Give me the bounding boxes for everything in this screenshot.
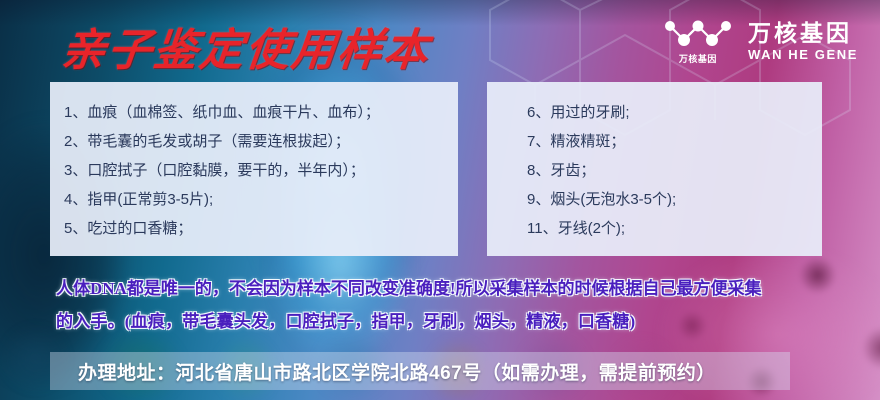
list-item: 11、牙线(2个); [501, 214, 808, 243]
brand-logo: 万核基因 万核基因 WAN HE GENE [662, 18, 858, 64]
logo-wordmark: 万核基因 WAN HE GENE [748, 21, 858, 61]
list-item: 3、口腔拭子（口腔黏膜，要干的，半年内）； [64, 156, 444, 185]
address-text: 办理地址：河北省唐山市路北区学院北路467号（如需办理，需提前预约） [50, 358, 716, 385]
note-paragraph: 人体DNA都是唯一的，不会因为样本不同改变准确度!所以采集样本的时候根据自己最方… [56, 272, 846, 338]
list-item: 5、吃过的口香糖； [64, 214, 444, 243]
list-item: 2、带毛囊的毛发或胡子（需要连根拔起）； [64, 127, 444, 156]
sample-list-right: 6、用过的牙刷; 7、精液精斑； 8、牙齿； 9、烟头(无泡水3-5个); 11… [501, 98, 808, 243]
sample-list-left: 1、血痕（血棉签、纸巾血、血痕干片、血布）； 2、带毛囊的毛发或胡子（需要连根拔… [64, 98, 444, 243]
list-item: 7、精液精斑； [501, 127, 808, 156]
list-item: 8、牙齿； [501, 156, 808, 185]
brand-name-cn: 万核基因 [748, 21, 858, 45]
list-item: 9、烟头(无泡水3-5个); [501, 185, 808, 214]
note-line-2: 的入手。(血痕，带毛囊头发，口腔拭子，指甲，牙刷，烟头，精液，口香糖) [56, 305, 846, 338]
page-title: 亲子鉴定使用样本 [59, 14, 434, 78]
list-item: 4、指甲(正常剪3-5片); [64, 185, 444, 214]
molecule-network-icon [662, 18, 734, 52]
logo-mark: 万核基因 [662, 18, 734, 64]
note-line-1: 人体DNA都是唯一的，不会因为样本不同改变准确度!所以采集样本的时候根据自己最方… [56, 272, 846, 305]
list-item: 6、用过的牙刷; [501, 98, 808, 127]
address-bar: 办理地址：河北省唐山市路北区学院北路467号（如需办理，需提前预约） [50, 352, 790, 390]
sample-list-panel-right: 6、用过的牙刷; 7、精液精斑； 8、牙齿； 9、烟头(无泡水3-5个); 11… [487, 82, 822, 256]
promo-banner: 亲子鉴定使用样本 万核基因 [0, 0, 880, 400]
brand-name-en: WAN HE GENE [748, 48, 858, 61]
sample-list-panel-left: 1、血痕（血棉签、纸巾血、血痕干片、血布）； 2、带毛囊的毛发或胡子（需要连根拔… [50, 82, 458, 256]
list-item: 1、血痕（血棉签、纸巾血、血痕干片、血布）； [64, 98, 444, 127]
logo-mark-label: 万核基因 [679, 55, 717, 64]
